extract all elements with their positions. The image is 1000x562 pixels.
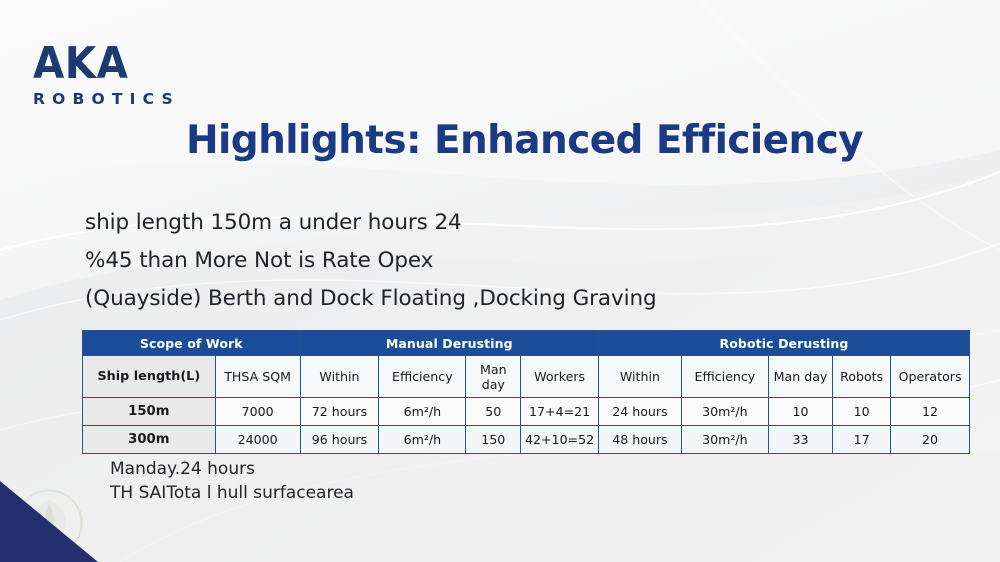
group-header-manual: Manual Derusting bbox=[300, 331, 598, 356]
column-header-robotic-man-day: Man day bbox=[768, 356, 832, 398]
table-row: 150m 7000 72 hours 6m²/h 50 17+4=21 24 h… bbox=[83, 398, 970, 426]
cell-thsa-sqm: 7000 bbox=[215, 398, 300, 426]
column-header-operators: Operators bbox=[891, 356, 970, 398]
footer-note-line-1: Manday.24 hours bbox=[110, 457, 354, 481]
logo-tagline: ROBOTICS bbox=[33, 92, 233, 108]
logo-wordmark: AKA bbox=[33, 42, 237, 86]
group-header-robotic: Robotic Derusting bbox=[598, 331, 969, 356]
table-column-header-row: Ship length(L) THSA SQM Within Efficienc… bbox=[83, 356, 970, 398]
cell-manual-workers: 17+4=21 bbox=[521, 398, 599, 426]
cell-robots: 10 bbox=[833, 398, 891, 426]
cell-manual-efficiency: 6m²/h bbox=[379, 398, 466, 426]
cell-manual-within: 96 hours bbox=[300, 426, 379, 454]
page-title: Highlights: Enhanced Efficiency bbox=[186, 118, 863, 163]
cell-manual-man-day: 150 bbox=[466, 426, 521, 454]
column-header-robots: Robots bbox=[833, 356, 891, 398]
brand-logo: AKA ROBOTICS bbox=[33, 42, 233, 108]
cell-operators: 12 bbox=[891, 398, 970, 426]
cell-robotic-man-day: 10 bbox=[768, 398, 832, 426]
table-group-header-row: Scope of Work Manual Derusting Robotic D… bbox=[83, 331, 970, 356]
body-line-1: ship length 150m a under hours 24 bbox=[85, 204, 785, 242]
column-header-manual-man-day: Man day bbox=[466, 356, 521, 398]
column-header-robotic-efficiency: Efficiency bbox=[681, 356, 768, 398]
cell-robotic-efficiency: 30m²/h bbox=[681, 398, 768, 426]
column-header-manual-efficiency: Efficiency bbox=[379, 356, 466, 398]
group-header-scope: Scope of Work bbox=[83, 331, 301, 356]
column-header-manual-within: Within bbox=[300, 356, 379, 398]
comparison-table: Scope of Work Manual Derusting Robotic D… bbox=[82, 330, 970, 454]
corner-triangle-decoration bbox=[0, 481, 98, 562]
body-line-3: (Quayside) Berth and Dock Floating ,Dock… bbox=[85, 280, 785, 318]
cell-robotic-within: 48 hours bbox=[598, 426, 681, 454]
column-header-ship-length: Ship length(L) bbox=[83, 356, 216, 398]
column-header-thsa-sqm: THSA SQM bbox=[215, 356, 300, 398]
cell-manual-within: 72 hours bbox=[300, 398, 379, 426]
cell-robotic-man-day: 33 bbox=[768, 426, 832, 454]
cell-manual-man-day: 50 bbox=[466, 398, 521, 426]
column-header-robotic-within: Within bbox=[598, 356, 681, 398]
cell-manual-efficiency: 6m²/h bbox=[379, 426, 466, 454]
slide-canvas: AKA ROBOTICS Highlights: Enhanced Effici… bbox=[0, 0, 1000, 562]
cell-operators: 20 bbox=[891, 426, 970, 454]
cell-manual-workers: 42+10=52 bbox=[521, 426, 599, 454]
cell-robots: 17 bbox=[833, 426, 891, 454]
body-text-block: ship length 150m a under hours 24 %45 th… bbox=[85, 204, 785, 318]
footer-note-line-2: TH SAITota l hull surfacearea bbox=[110, 481, 354, 505]
cell-robotic-within: 24 hours bbox=[598, 398, 681, 426]
footer-note: Manday.24 hours TH SAITota l hull surfac… bbox=[110, 457, 354, 505]
table-row: 300m 24000 96 hours 6m²/h 150 42+10=52 4… bbox=[83, 426, 970, 454]
cell-thsa-sqm: 24000 bbox=[215, 426, 300, 454]
cell-robotic-efficiency: 30m²/h bbox=[681, 426, 768, 454]
cell-ship-length: 300m bbox=[83, 426, 216, 454]
cell-ship-length: 150m bbox=[83, 398, 216, 426]
body-line-2: %45 than More Not is Rate Opex bbox=[85, 242, 785, 280]
column-header-manual-workers: Workers bbox=[521, 356, 599, 398]
